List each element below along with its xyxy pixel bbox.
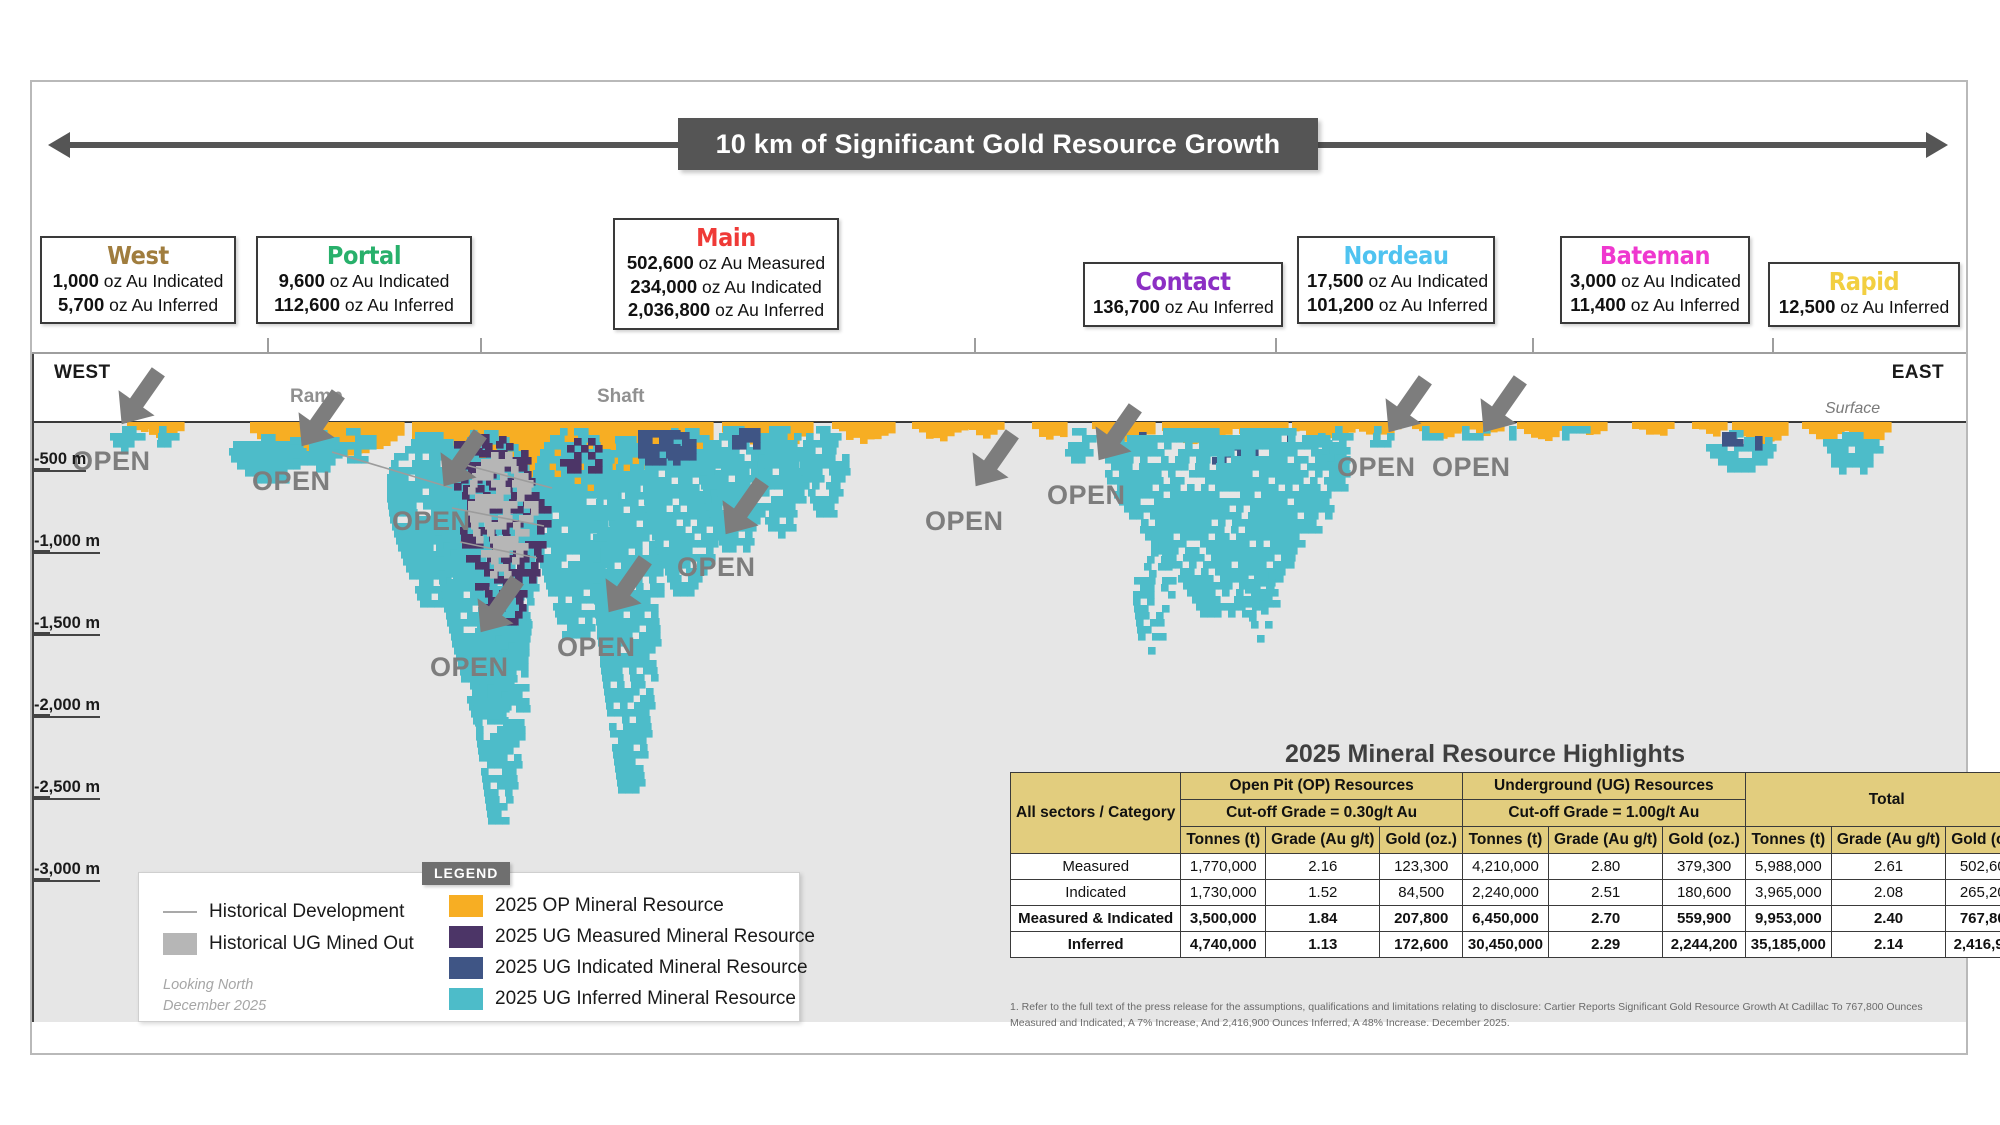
ore-block [1175, 561, 1183, 569]
table-cell: 6,450,000 [1462, 906, 1548, 932]
ore-block [547, 470, 555, 478]
ore-block [657, 484, 665, 492]
ore-block [662, 519, 670, 527]
ore-block [1731, 451, 1739, 459]
ore-block [1245, 586, 1253, 594]
ore-block [408, 488, 416, 496]
ore-block [511, 726, 519, 734]
ore-block [627, 751, 635, 759]
ore-block [503, 775, 511, 783]
ore-block [1182, 526, 1190, 534]
ore-block [1257, 505, 1265, 513]
ore-block [445, 570, 453, 578]
ore-block [758, 454, 766, 462]
ore-block [487, 810, 495, 818]
ore-block [606, 450, 614, 458]
ore-block [545, 554, 553, 562]
open-label: OPEN [1432, 452, 1511, 483]
ore-block [628, 709, 636, 717]
ore-block [1210, 470, 1218, 478]
legend-note-line2: December 2025 [163, 996, 266, 1017]
ore-block [657, 526, 665, 534]
ore-block [1720, 422, 1728, 431]
ore-block [623, 723, 631, 731]
ore-block [600, 527, 608, 535]
ore-block [1341, 484, 1349, 492]
ore-block [1189, 470, 1197, 478]
ore-block [619, 695, 627, 703]
ore-block [564, 617, 572, 625]
ore-block [480, 698, 488, 706]
ore-block [708, 461, 716, 469]
ore-block [635, 534, 643, 542]
ore-block [1218, 582, 1226, 590]
legend-line-swatch [163, 911, 197, 913]
ore-block [1203, 470, 1211, 478]
ore-block [1183, 435, 1191, 443]
ore-block [504, 733, 512, 741]
ore-block [1872, 439, 1880, 447]
ore-block [1145, 484, 1153, 492]
ore-block [581, 428, 589, 436]
ore-block [581, 519, 589, 527]
ore-block [531, 501, 539, 509]
ore-block [550, 435, 558, 443]
ore-block [518, 726, 526, 734]
ore-block [595, 506, 603, 514]
ore-block [1271, 505, 1279, 513]
ore-block [567, 466, 575, 474]
ore-block [783, 510, 791, 518]
ore-block [1267, 554, 1275, 562]
table-cell: 2.61 [1831, 854, 1945, 880]
ore-block [645, 458, 653, 466]
ore-block [1154, 498, 1162, 506]
ore-block [1313, 505, 1321, 513]
ore-block [1126, 498, 1134, 506]
ore-block [1133, 498, 1141, 506]
ore-block [1250, 484, 1258, 492]
ore-block [1220, 442, 1228, 450]
ore-block [488, 705, 496, 713]
ore-block [794, 447, 802, 455]
ore-block [947, 422, 955, 436]
ore-block [247, 441, 255, 449]
ore-block [1218, 435, 1226, 443]
ore-block [495, 459, 503, 467]
ore-block [565, 547, 573, 555]
legend-color-swatch [449, 957, 483, 979]
ore-block [1192, 575, 1200, 583]
ore-block [418, 439, 426, 447]
ore-block [1304, 512, 1312, 520]
ore-block [1322, 498, 1330, 506]
ore-block [243, 448, 251, 456]
ore-block [488, 712, 496, 720]
ore-block [553, 519, 561, 527]
ore-block [1189, 561, 1197, 569]
table-group-header-2: Total [1745, 773, 2000, 827]
ore-block [780, 475, 788, 483]
ore-block [636, 716, 644, 724]
ore-block [714, 440, 722, 448]
ore-block [786, 468, 794, 476]
ore-block [1297, 442, 1305, 450]
open-down-arrow-icon [597, 552, 657, 625]
ore-block [828, 461, 836, 469]
ore-block [785, 496, 793, 504]
table-cell: 265,200 [1946, 880, 2000, 906]
ore-block [614, 541, 622, 549]
ore-block [612, 744, 620, 752]
ore-block [608, 667, 616, 675]
ore-block [1234, 596, 1242, 604]
ore-block [512, 557, 520, 565]
ore-block [497, 733, 505, 741]
ore-block [673, 589, 681, 597]
ore-block [582, 526, 590, 534]
ore-block [912, 422, 920, 429]
ore-block [250, 448, 258, 456]
ore-block [1138, 633, 1146, 641]
ore-block [617, 730, 625, 738]
ore-block [609, 506, 617, 514]
legend-note-line1: Looking North [163, 975, 266, 996]
table-cell: 379,300 [1663, 854, 1745, 880]
ore-block [511, 782, 519, 790]
ore-block [558, 498, 566, 506]
ore-block [1255, 512, 1263, 520]
ore-block [1075, 442, 1083, 450]
ore-block [1311, 449, 1319, 457]
ore-block [1746, 458, 1754, 466]
ore-block [707, 440, 715, 448]
ore-block [723, 426, 731, 434]
sector-box-bateman: Bateman3,000 oz Au Indicated11,400 oz Au… [1560, 236, 1750, 324]
ore-block [593, 534, 601, 542]
ore-block [1148, 577, 1156, 585]
ore-block [631, 730, 639, 738]
ore-block [631, 779, 639, 787]
ore-block [1241, 547, 1249, 555]
ore-block [1210, 603, 1218, 611]
ore-block [401, 488, 409, 496]
ore-block [668, 446, 676, 454]
ore-block [624, 779, 632, 787]
ore-block [355, 442, 363, 450]
ore-block [1079, 428, 1087, 436]
ore-block [1222, 505, 1230, 513]
ore-block [445, 563, 453, 571]
ore-block [690, 540, 698, 548]
ore-block [526, 515, 534, 523]
ore-block [1197, 582, 1205, 590]
ore-block [529, 576, 537, 584]
ore-block [515, 529, 523, 537]
ore-block [1198, 491, 1206, 499]
table-row-label: Measured & Indicated [1011, 906, 1181, 932]
ore-block [1136, 619, 1144, 627]
ore-block [1205, 491, 1213, 499]
ore-block [572, 498, 580, 506]
ore-block [1187, 484, 1195, 492]
ore-block [638, 681, 646, 689]
legend-label: 2025 OP Mineral Resource [495, 895, 724, 917]
ore-block [473, 698, 481, 706]
ore-block [544, 498, 552, 506]
ore-block [722, 461, 730, 469]
ore-block [1149, 491, 1157, 499]
ore-block [673, 505, 681, 513]
ore-block [401, 551, 409, 559]
ore-block [456, 591, 464, 599]
ore-block [664, 477, 672, 485]
ore-block [1298, 540, 1306, 548]
ore-block [1845, 453, 1853, 461]
ore-block [522, 649, 530, 657]
table-cell: 30,450,000 [1462, 932, 1548, 958]
ore-block [617, 681, 625, 689]
ore-block [1272, 463, 1280, 471]
ore-block [808, 447, 816, 455]
ore-block [765, 454, 773, 462]
ore-block [566, 512, 574, 520]
ore-block [1173, 484, 1181, 492]
ore-block [580, 512, 588, 520]
ore-block [487, 761, 495, 769]
ore-block [501, 564, 509, 572]
ore-block [1168, 526, 1176, 534]
ore-block [634, 702, 642, 710]
ore-block [610, 499, 618, 507]
ore-block [693, 498, 701, 506]
ore-block [687, 589, 695, 597]
ore-block [650, 526, 658, 534]
ore-block [1229, 484, 1237, 492]
table-column-header-3: Tonnes (t) [1462, 827, 1548, 854]
ore-block [466, 563, 474, 571]
ore-block [691, 582, 699, 590]
ore-block [1164, 442, 1172, 450]
ore-block [1283, 442, 1291, 450]
ore-block [629, 520, 637, 528]
ore-block [689, 439, 697, 447]
ore-block [481, 705, 489, 713]
ore-block [782, 524, 790, 532]
ore-block [596, 499, 604, 507]
ore-block [623, 443, 631, 451]
ore-block [1241, 449, 1249, 457]
ore-block [503, 487, 511, 495]
ore-block [1183, 519, 1191, 527]
ore-block [1224, 470, 1232, 478]
ore-block [643, 477, 651, 485]
ore-block [1285, 533, 1293, 541]
ore-block [621, 758, 629, 766]
ore-block [613, 478, 621, 486]
ore-block [1264, 484, 1272, 492]
ore-block [650, 667, 658, 675]
ore-block [456, 626, 464, 634]
ore-block [817, 440, 825, 448]
ore-block [814, 454, 822, 462]
ore-block [415, 495, 423, 503]
ore-block [617, 779, 625, 787]
ore-block [832, 422, 840, 429]
ore-block [412, 544, 420, 552]
ore-block [403, 537, 411, 545]
ore-block [651, 470, 659, 478]
ore-block [643, 491, 651, 499]
ore-block [1285, 484, 1293, 492]
ore-block [1211, 582, 1219, 590]
ore-block [1128, 491, 1136, 499]
ore-block [653, 632, 661, 640]
ore-block [1718, 458, 1726, 466]
ore-block [507, 543, 515, 551]
ore-block [264, 448, 272, 456]
ore-block [1283, 449, 1291, 457]
ore-block [438, 563, 446, 571]
ore-block [434, 600, 442, 608]
ore-block [1327, 484, 1335, 492]
ore-block [354, 449, 362, 457]
ore-block [494, 761, 502, 769]
ore-block [551, 505, 559, 513]
ore-block [1262, 512, 1270, 520]
ore-block [686, 498, 694, 506]
ore-block [1148, 435, 1156, 443]
sector-stat-line: 502,600 oz Au Measured [623, 251, 829, 275]
ore-block [1262, 547, 1270, 555]
ore-block [480, 684, 488, 692]
ore-block [1275, 491, 1283, 499]
ore-block [586, 596, 594, 604]
ore-block [1257, 635, 1265, 643]
ore-block [499, 747, 507, 755]
ore-block [715, 461, 723, 469]
ore-block [574, 519, 582, 527]
ore-block [1876, 446, 1884, 454]
ore-block [459, 640, 467, 648]
ore-block [1205, 428, 1213, 436]
ore-block [412, 460, 420, 468]
ore-block [1302, 435, 1310, 443]
ore-block [460, 577, 468, 585]
table-column-header-8: Gold (oz.) [1946, 827, 2000, 854]
ore-block [570, 568, 578, 576]
ore-block [1196, 526, 1204, 534]
ore-block [619, 485, 627, 493]
ore-block [665, 498, 673, 506]
ore-block [1145, 533, 1153, 541]
ore-block [624, 499, 632, 507]
ore-block [1752, 451, 1760, 459]
ore-block [680, 589, 688, 597]
ore-block [1781, 422, 1789, 436]
ore-block [237, 462, 245, 470]
ore-block [581, 445, 589, 453]
ore-block [1774, 422, 1782, 441]
ore-block [600, 534, 608, 542]
ore-block [1332, 433, 1340, 441]
ore-block [513, 522, 521, 530]
ore-block [615, 765, 623, 773]
ore-block [584, 540, 592, 548]
ore-block [1217, 456, 1225, 464]
ore-block [652, 533, 660, 541]
ore-block [1722, 439, 1730, 447]
ore-block [1281, 554, 1289, 562]
ore-block [487, 529, 495, 537]
arrow-left-head [48, 132, 70, 158]
ore-block [1884, 422, 1892, 433]
ore-block [583, 610, 591, 618]
ore-block [801, 447, 809, 455]
ore-block [1068, 442, 1076, 450]
ore-block [697, 540, 705, 548]
ore-block [1339, 433, 1347, 441]
ore-block [1260, 554, 1268, 562]
ore-block [1196, 470, 1204, 478]
ore-block [1196, 603, 1204, 611]
ore-block [1827, 446, 1835, 454]
table-corner-label: All sectors / Category [1011, 773, 1181, 854]
ore-block [280, 455, 288, 463]
table-cell: 172,600 [1380, 932, 1462, 958]
ore-block [776, 426, 784, 434]
ore-block [757, 461, 765, 469]
ore-block [1252, 586, 1260, 594]
ore-block [834, 433, 842, 441]
ore-block [675, 446, 683, 454]
ore-block [565, 498, 573, 506]
ore-block [483, 782, 491, 790]
ore-block [682, 446, 690, 454]
ore-block [552, 484, 560, 492]
ore-block [628, 534, 636, 542]
ore-block [1185, 442, 1193, 450]
ore-block [1299, 422, 1307, 431]
ore-block [1759, 451, 1767, 459]
ore-block [417, 537, 425, 545]
ore-block [481, 712, 489, 720]
ore-block [679, 470, 687, 478]
ore-block [1760, 458, 1768, 466]
ore-block [1133, 598, 1141, 606]
ore-block [521, 543, 529, 551]
ore-block [390, 422, 398, 441]
ore-block [704, 540, 712, 548]
ore-block [1225, 435, 1233, 443]
table-title: 2025 Mineral Resource Highlights [1010, 740, 1960, 769]
ore-block [1706, 444, 1714, 452]
ore-block [1247, 428, 1255, 436]
ore-block [618, 457, 626, 465]
ore-block [1060, 422, 1068, 437]
ore-block [613, 751, 621, 759]
ore-block [642, 653, 650, 661]
ore-block [628, 527, 636, 535]
ore-block [616, 674, 624, 682]
ore-block [659, 444, 667, 452]
ore-block [1583, 426, 1591, 434]
ore-block [1169, 435, 1177, 443]
ore-block [1160, 463, 1168, 471]
ore-block [1296, 477, 1304, 485]
ore-block [615, 667, 623, 675]
sector-name: Portal [266, 242, 462, 269]
